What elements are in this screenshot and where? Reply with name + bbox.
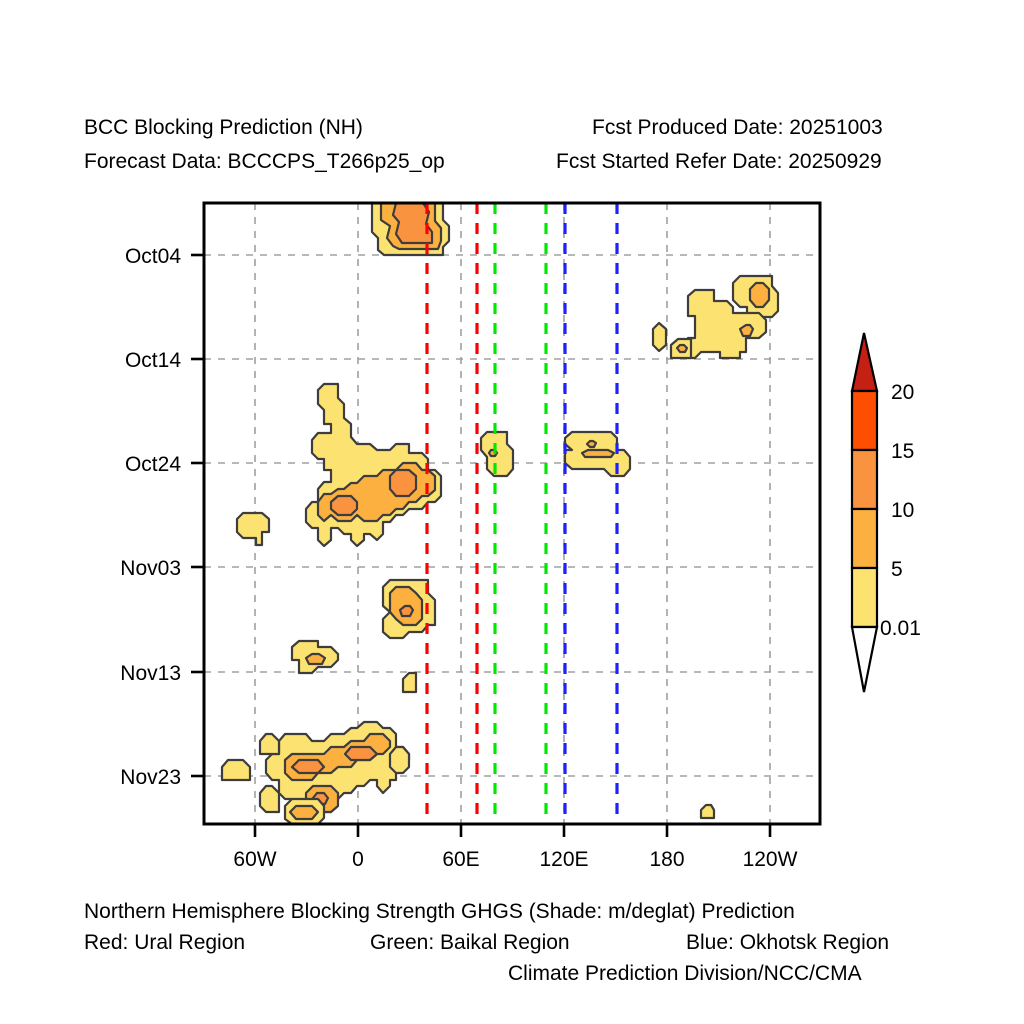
ytick-label-Oct24: Oct24 — [125, 453, 181, 476]
contour-band-5-10 — [306, 654, 325, 664]
contour-band-5-10 — [290, 806, 318, 819]
colorbar-labels: 20 15 10 5 0.01 — [880, 381, 921, 640]
colorbar-extend-high-arrow — [852, 333, 877, 391]
legend-red-region: Red: Ural Region — [84, 932, 245, 953]
contour-band-10-15 — [345, 747, 377, 760]
legend-blue-region: Blue: Okhotsk Region — [686, 932, 889, 953]
contour-band-10-15 — [331, 496, 357, 515]
caption-organization: Climate Prediction Division/NCC/CMA — [508, 963, 862, 984]
contour-band-0-5 — [260, 734, 279, 754]
contour-band-0-5 — [222, 760, 250, 780]
ytick-label-Nov13: Nov13 — [120, 662, 181, 685]
caption-main: Northern Hemisphere Blocking Strength GH… — [84, 901, 795, 922]
contour-band-10-15 — [292, 760, 324, 773]
colorbar-band-5-10 — [852, 509, 877, 568]
colorbar-label-10: 10 — [891, 499, 914, 522]
hovmoller-plot: 60W 0 60E 120E 180 120W Oct04 Oct14 Oct2… — [0, 0, 1024, 1024]
xtick-label-120E: 120E — [539, 848, 588, 871]
colorbar-label-001: 0.01 — [880, 617, 921, 640]
contour-band-0-5 — [403, 673, 416, 692]
contour-band-5-10 — [750, 283, 769, 307]
colorbar-band-15-20 — [852, 391, 877, 450]
xtick-label-180: 180 — [649, 848, 684, 871]
figure-canvas: BCC Blocking Prediction (NH) Forecast Da… — [0, 0, 1024, 1024]
colorbar — [852, 333, 877, 692]
ytick-label-Nov23: Nov23 — [120, 766, 181, 789]
plot-area-background — [204, 203, 820, 824]
contour-band-5-10 — [740, 325, 753, 336]
xtick-label-60W: 60W — [233, 848, 276, 871]
legend-green-region: Green: Baikal Region — [370, 932, 570, 953]
colorbar-label-15: 15 — [891, 440, 914, 463]
contour-band-5-10 — [677, 345, 687, 352]
xtick-label-60E: 60E — [442, 848, 479, 871]
contour-band-0-5 — [653, 323, 666, 351]
contour-band-5-10 — [582, 450, 614, 457]
colorbar-extend-low-arrow — [852, 627, 877, 692]
contour-band-5-10 — [587, 441, 596, 447]
colorbar-band-001-5 — [852, 568, 877, 627]
xtick-label-120W: 120W — [743, 848, 798, 871]
colorbar-label-20: 20 — [891, 381, 914, 404]
x-axis-labels: 60W 0 60E 120E 180 120W — [233, 848, 797, 871]
ytick-label-Oct04: Oct04 — [125, 245, 181, 268]
xtick-label-0: 0 — [352, 848, 364, 871]
colorbar-label-5: 5 — [891, 558, 903, 581]
colorbar-band-10-15 — [852, 450, 877, 509]
contour-band-10-15 — [390, 470, 416, 496]
ytick-label-Nov03: Nov03 — [120, 557, 181, 580]
y-axis-labels: Oct04 Oct14 Oct24 Nov03 Nov13 Nov23 — [120, 245, 181, 789]
contour-band-0-5 — [701, 805, 714, 818]
contour-band-0-5 — [260, 786, 279, 812]
contour-band-10-15 — [400, 606, 413, 616]
ytick-label-Oct14: Oct14 — [125, 349, 181, 372]
contour-band-0-5 — [390, 747, 409, 773]
